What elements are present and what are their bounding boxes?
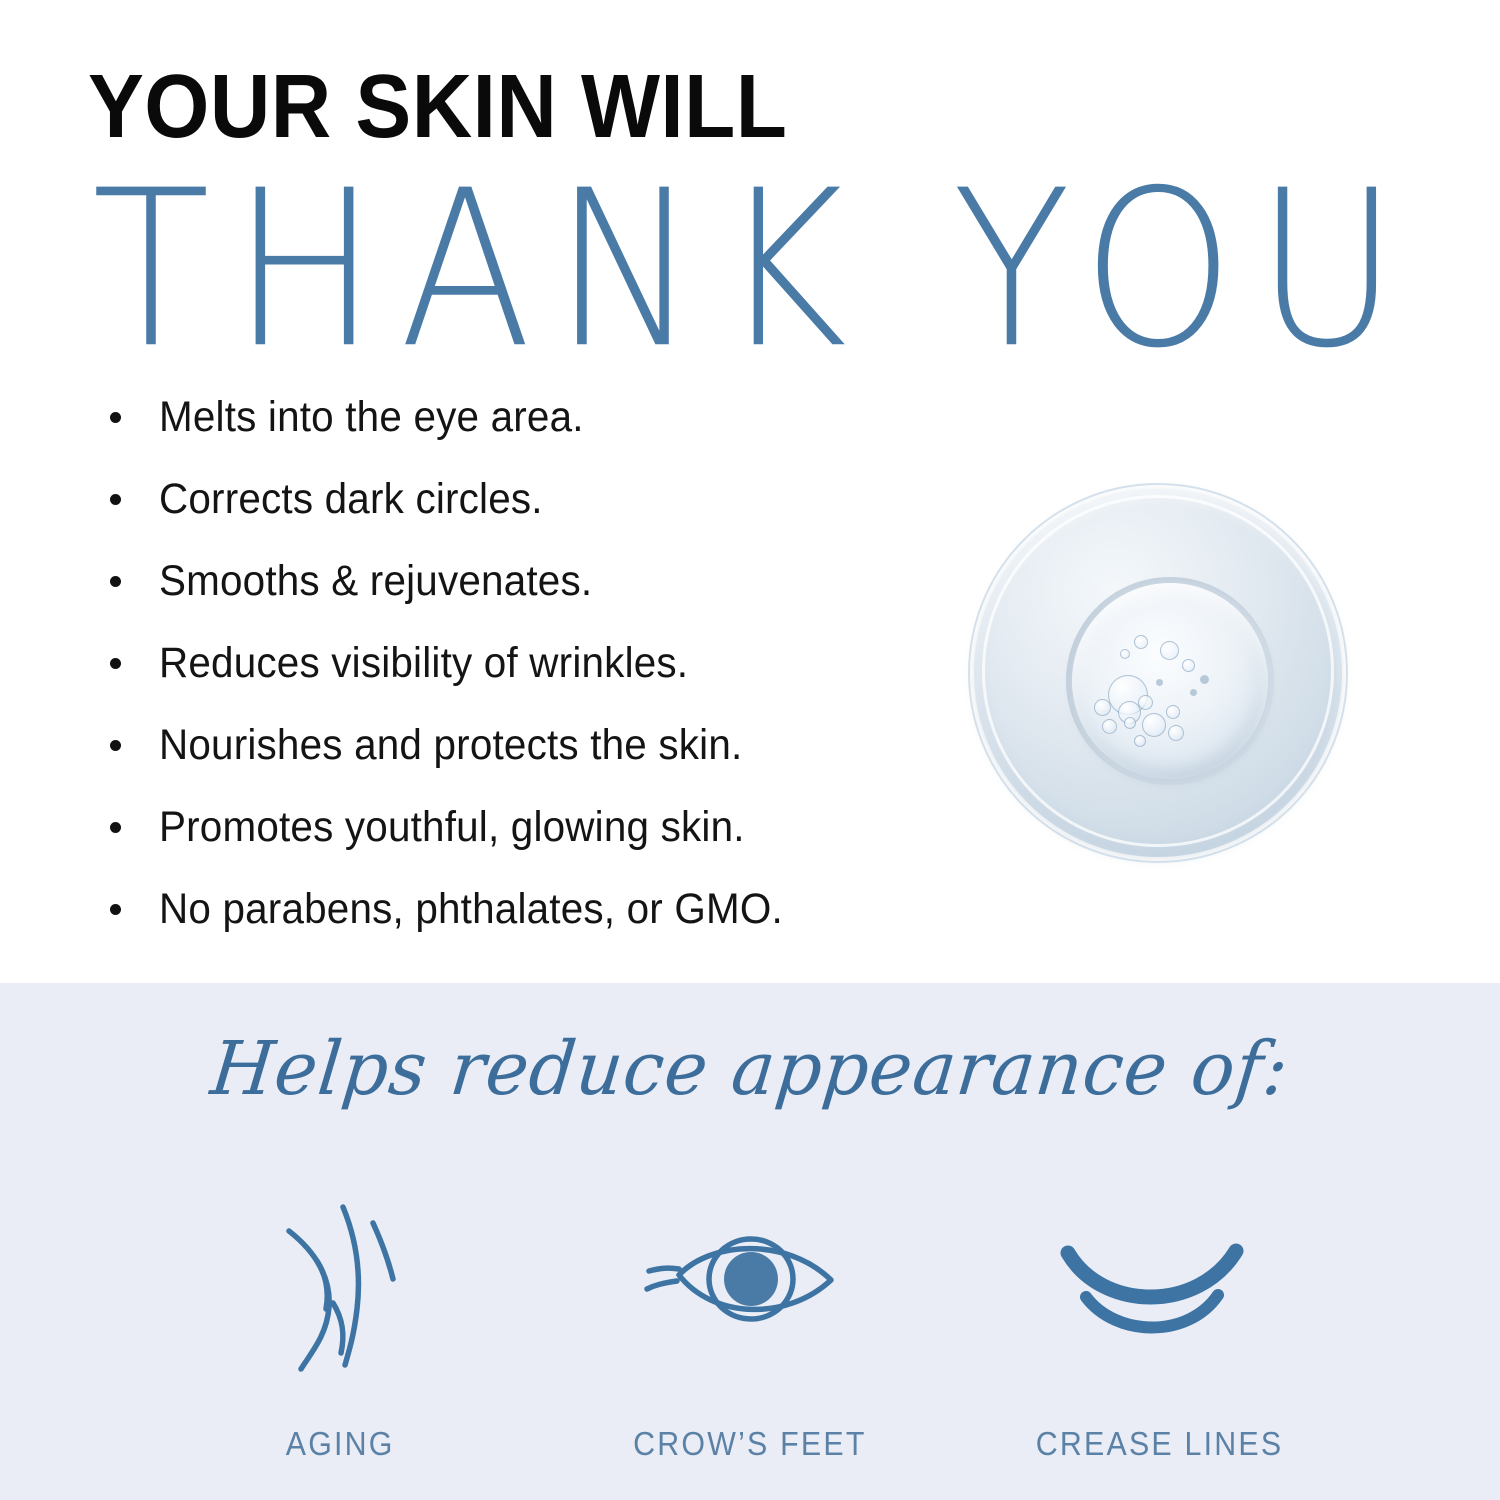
bullet-dot-icon [110, 822, 121, 833]
product-droplet-image [968, 483, 1350, 865]
droplet-inner-disc [1072, 583, 1268, 779]
bullet-dot-icon [110, 658, 121, 669]
bullet-dot-icon [110, 904, 121, 915]
concern-label: AGING [286, 1425, 395, 1463]
bottom-lavender-panel: Helps reduce appearance of: AGING [0, 983, 1500, 1500]
bullet-dot-icon [110, 576, 121, 587]
bubble-icon [1200, 675, 1209, 684]
benefit-text: Promotes youthful, glowing skin. [159, 802, 745, 852]
list-item: No parabens, phthalates, or GMO. [110, 884, 950, 966]
concern-item-aging: AGING [180, 1193, 500, 1463]
list-item: Nourishes and protects the skin. [110, 720, 950, 802]
bubble-icon [1120, 649, 1130, 659]
script-heading: Helps reduce appearance of: [17, 1021, 1482, 1117]
page-title: THANK YOU [92, 162, 1420, 378]
concerns-row: AGING CROW’S [180, 1193, 1320, 1463]
bubble-icon [1142, 713, 1166, 737]
bullet-dot-icon [110, 494, 121, 505]
bubble-icon [1138, 695, 1153, 710]
list-item: Smooths & rejuvenates. [110, 556, 950, 638]
benefit-text: Melts into the eye area. [159, 392, 584, 442]
bubble-icon [1134, 735, 1146, 747]
concern-label: CREASE LINES [1036, 1425, 1284, 1463]
benefit-text: Reduces visibility of wrinkles. [159, 638, 688, 688]
concern-item-crease-lines: CREASE LINES [1000, 1193, 1320, 1463]
benefit-text: Corrects dark circles. [159, 474, 543, 524]
list-item: Corrects dark circles. [110, 474, 950, 556]
bubble-icon [1102, 719, 1117, 734]
list-item: Melts into the eye area. [110, 392, 950, 474]
bubble-icon [1094, 699, 1111, 716]
top-white-section: YOUR SKIN WILL THANK YOU Melts into the … [0, 0, 1500, 983]
bubble-icon [1124, 717, 1136, 729]
crease-arcs-icon [1050, 1193, 1270, 1383]
bubble-icon [1134, 635, 1148, 649]
bullet-dot-icon [110, 412, 121, 423]
infographic-canvas: YOUR SKIN WILL THANK YOU Melts into the … [0, 0, 1500, 1500]
concern-label: CROW’S FEET [633, 1425, 866, 1463]
list-item: Promotes youthful, glowing skin. [110, 802, 950, 884]
bubble-icon [1166, 705, 1180, 719]
bullet-dot-icon [110, 740, 121, 751]
benefit-text: Smooths & rejuvenates. [159, 556, 592, 606]
bubble-icon [1156, 679, 1163, 686]
bubble-icon [1190, 689, 1197, 696]
bubble-icon [1160, 641, 1179, 660]
list-item: Reduces visibility of wrinkles. [110, 638, 950, 720]
benefit-text: Nourishes and protects the skin. [159, 720, 742, 770]
concern-item-crows-feet: CROW’S FEET [590, 1193, 910, 1463]
bubble-icon [1182, 659, 1195, 672]
benefit-text: No parabens, phthalates, or GMO. [159, 884, 783, 934]
benefits-list: Melts into the eye area. Corrects dark c… [110, 392, 950, 966]
wrinkle-lines-icon [265, 1193, 415, 1383]
bubble-icon [1168, 725, 1184, 741]
eye-icon [635, 1193, 865, 1383]
headline-eyebrow: YOUR SKIN WILL [88, 62, 787, 152]
